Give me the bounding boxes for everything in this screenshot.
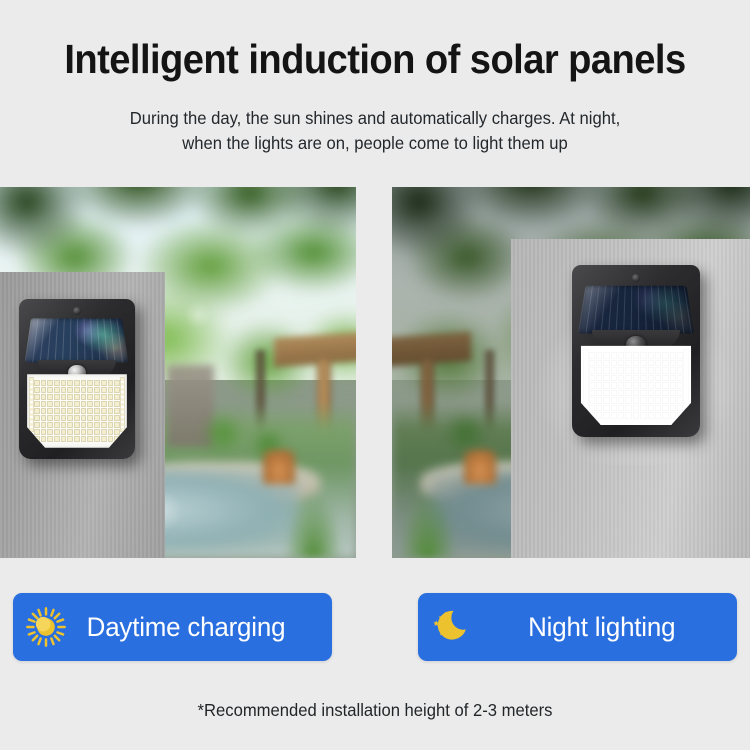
mounting-screw [632, 274, 640, 282]
sun-icon [13, 593, 79, 661]
led-side-strip [683, 349, 689, 408]
subtitle-line-2: when the lights are on, people come to l… [19, 131, 732, 156]
flower-pot [263, 450, 295, 483]
solar-panel [578, 286, 694, 333]
solar-panel-iridescence [25, 318, 129, 362]
pavilion-roof [274, 332, 356, 367]
night-photo [392, 187, 750, 558]
night-lighting-label: Night lighting [484, 612, 675, 643]
page-title: Intelligent induction of solar panels [26, 34, 724, 84]
grass-clump [399, 491, 456, 558]
subtitle-line-1: During the day, the sun shines and autom… [130, 108, 620, 128]
daytime-charging-label: Daytime charging [79, 612, 285, 643]
bush [199, 413, 245, 454]
moon-stars-icon [418, 593, 484, 661]
bush [442, 413, 489, 454]
product-feature-page: Intelligent induction of solar panels Du… [0, 0, 750, 750]
led-panel [27, 374, 127, 448]
solar-panel [25, 318, 129, 362]
grass-clump [285, 491, 342, 558]
solar-lamp-off [19, 299, 135, 459]
daytime-charging-button[interactable]: Daytime charging [13, 593, 332, 661]
flower-pot [464, 450, 496, 483]
led-side-strip [120, 377, 125, 431]
solar-panel-iridescence [578, 286, 694, 333]
night-lighting-button[interactable]: Night lighting [418, 593, 737, 661]
led-panel [581, 346, 691, 425]
solar-lamp-on [572, 265, 700, 437]
led-grid [589, 352, 684, 418]
installation-note: *Recommended installation height of 2-3 … [19, 700, 732, 721]
led-grid [34, 380, 120, 442]
page-subtitle: During the day, the sun shines and autom… [19, 106, 732, 156]
daytime-photo [0, 187, 356, 558]
lens-flare [185, 302, 211, 328]
